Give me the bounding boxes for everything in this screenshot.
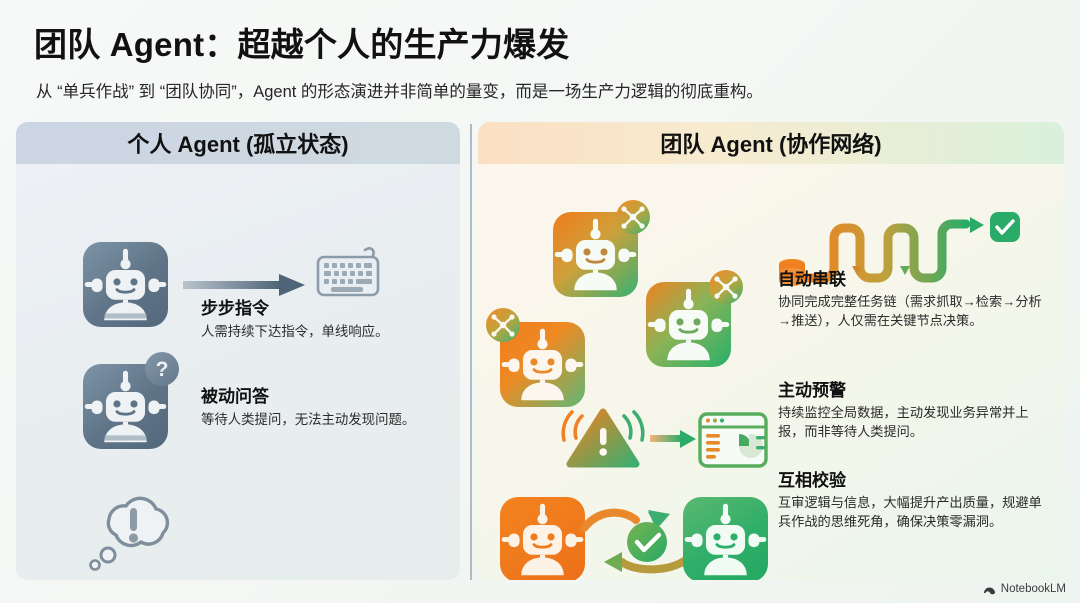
left-panel-body: ? 步步指令 人需持续下达指令，单线响应。 被动问答 — [16, 164, 460, 580]
left-item-3-icons — [83, 489, 183, 580]
page-title: 团队 Agent：超越个人的生产力爆发 — [34, 18, 569, 66]
right-item-1-title: 自动串联 — [778, 265, 1053, 290]
left-item-1-text: 步步指令 人需持续下达指令，单线响应。 — [201, 294, 451, 341]
panel-divider — [470, 124, 472, 580]
svg-text:?: ? — [156, 358, 169, 381]
keyboard-icon — [315, 244, 381, 300]
robot-network-icon — [646, 282, 731, 367]
robot-green-icon — [683, 497, 768, 580]
panel-individual-agent: 个人 Agent (孤立状态) — [16, 122, 460, 580]
alert-to-dashboard-icons — [538, 402, 768, 482]
right-item-2-desc: 持续监控全局数据，主动发现业务异常并上报，而非等待人类提问。 — [778, 404, 1053, 441]
right-item-2-text: 主动预警 持续监控全局数据，主动发现业务异常并上报，而非等待人类提问。 — [778, 376, 1053, 441]
network-badge-icon — [486, 308, 520, 342]
watermark-label: NotebookLM — [1001, 583, 1066, 595]
left-item-2-desc: 等待人类提问，无法主动发现问题。 — [201, 410, 460, 429]
right-item-1-desc: 协同完成完整任务链（需求抓取→检索→分析→推送），人仅需在关键节点决策。 — [778, 293, 1053, 330]
left-panel-heading: 个人 Agent (孤立状态) — [16, 122, 460, 164]
right-item-3-title: 互相校验 — [778, 466, 1053, 491]
page-subtitle: 从 “单兵作战” 到 “团队协同”，Agent 的形态演进并非简单的量变，而是一… — [36, 78, 763, 102]
network-badge-icon — [709, 270, 743, 304]
robot-icon — [83, 242, 168, 327]
check-badge-icon — [990, 212, 1020, 242]
robot-network-icon — [500, 322, 585, 407]
left-item-2-title: 被动问答 — [201, 382, 460, 407]
left-item-2-icons: ? — [83, 364, 168, 449]
check-circle-icon — [624, 519, 670, 570]
question-badge-icon: ? — [145, 352, 179, 386]
left-item-1-title: 步步指令 — [201, 294, 451, 319]
notebooklm-logo-icon — [983, 582, 996, 595]
robot-orange-icon — [500, 497, 585, 580]
right-item-3-text: 互相校验 互审逻辑与信息，大幅提升产出质量，规避单兵作战的思维死角，确保决策零漏… — [778, 466, 1053, 531]
left-item-2-text: 被动问答 等待人类提问，无法主动发现问题。 — [201, 382, 460, 429]
right-item-1-text: 自动串联 协同完成完整任务链（需求抓取→检索→分析→推送），人仅需在关键节点决策… — [778, 265, 1053, 330]
right-item-2-title: 主动预警 — [778, 376, 1053, 401]
left-item-1-icons — [83, 242, 168, 327]
right-item-3-desc: 互审逻辑与信息，大幅提升产出质量，规避单兵作战的思维死角，确保决策零漏洞。 — [778, 494, 1053, 531]
notebooklm-watermark: NotebookLM — [983, 582, 1066, 595]
dashboard-chart-icon — [700, 414, 766, 466]
thought-bubble-exclamation-icon — [83, 489, 183, 575]
network-badge-icon — [616, 200, 650, 234]
robot-network-icon — [553, 212, 638, 297]
left-item-1-desc: 人需持续下达指令，单线响应。 — [201, 322, 451, 341]
right-panel-heading: 团队 Agent (协作网络) — [478, 122, 1064, 164]
infographic-canvas: 团队 Agent：超越个人的生产力爆发 从 “单兵作战” 到 “团队协同”，Ag… — [0, 0, 1080, 603]
